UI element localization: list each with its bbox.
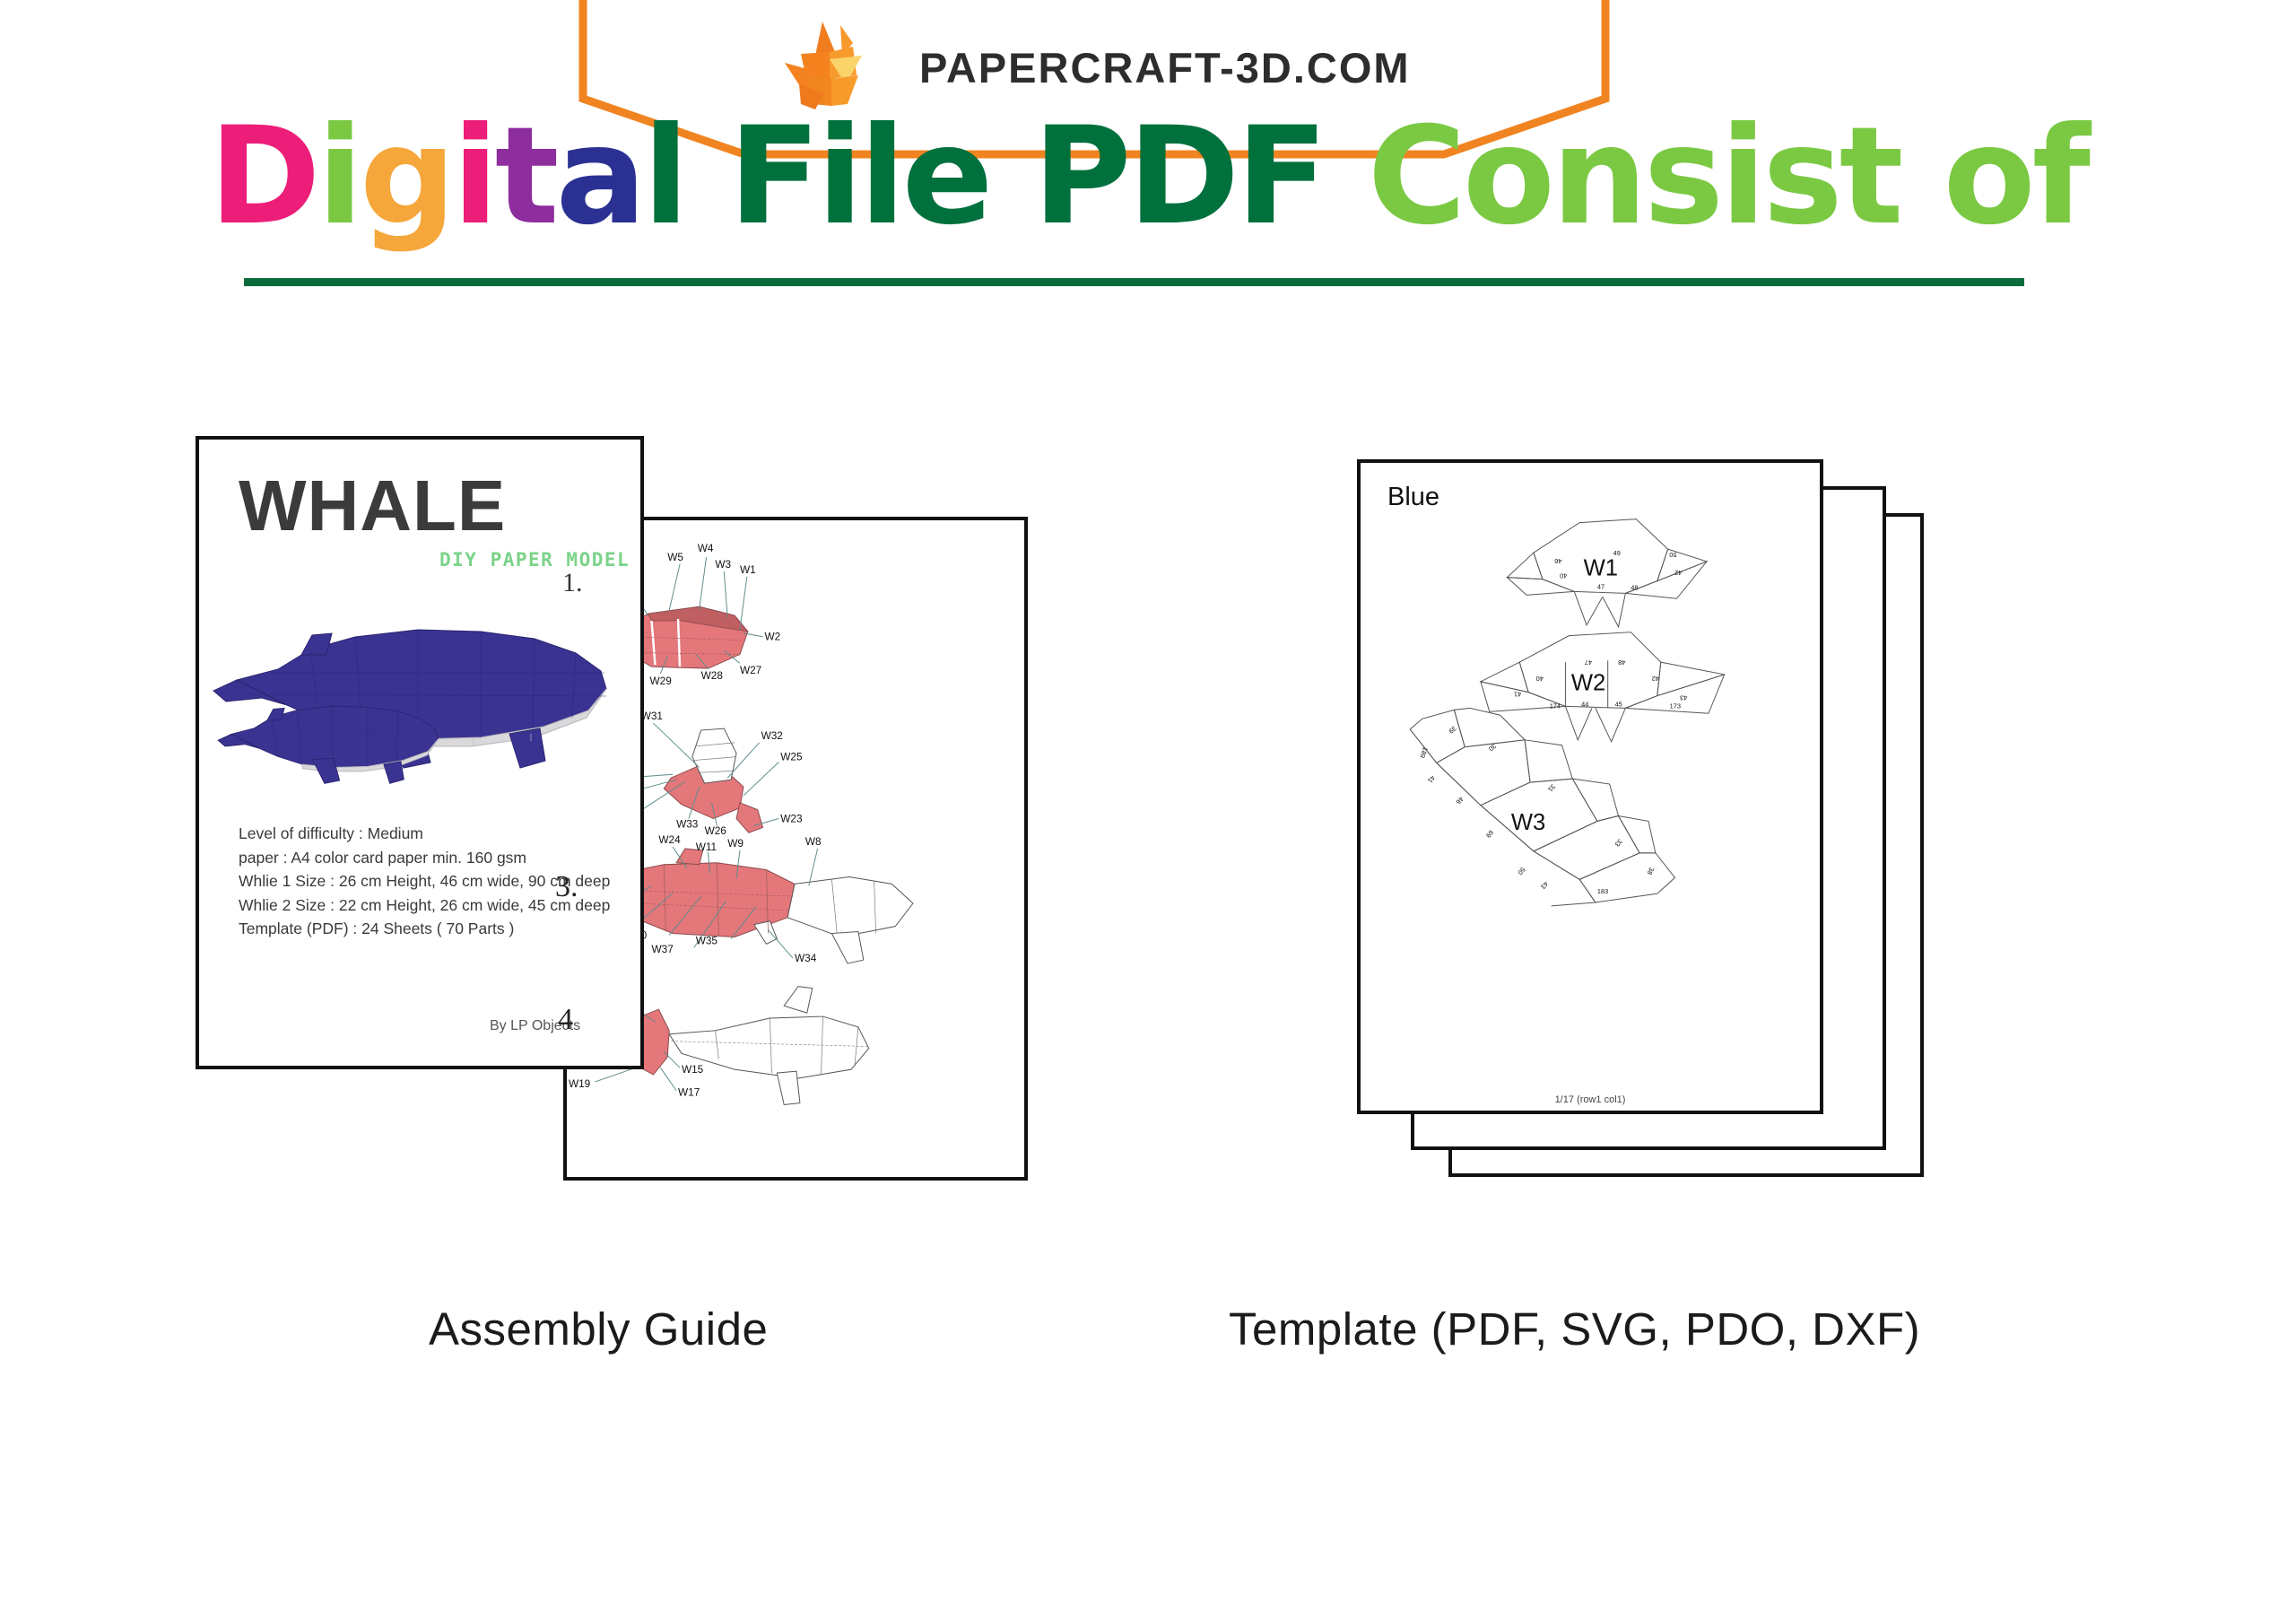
net-edge-numbers-W1: 49 46 40 47 48 50 42 [1554, 549, 1682, 591]
edge-num-w3-41: 41 [1426, 774, 1437, 785]
page-title: Digital File PDF Consist of [0, 109, 2296, 244]
net-part-W3 [1410, 708, 1674, 906]
edge-num-w3-50: 50 [1516, 866, 1526, 876]
title-letter-i2: i [452, 99, 494, 255]
edge-num-w2-45: 45 [1615, 700, 1622, 708]
title-letter-a: a [556, 99, 643, 255]
brand-name: PAPERCRAFT-3D.COM [919, 43, 1411, 92]
edge-num-47: 47 [1597, 582, 1605, 590]
part-label-W8: W8 [805, 835, 822, 848]
edge-num-46: 46 [1554, 557, 1561, 565]
title-word-consist-of: Consist of [1368, 99, 2087, 255]
parts-head-illustration [627, 606, 748, 668]
title-word-file-pdf: File PDF [685, 99, 1368, 255]
edge-num-w2-174: 174 [1550, 702, 1561, 710]
edge-num-48: 48 [1631, 583, 1638, 591]
part-label-W37: W37 [652, 943, 674, 955]
part-label-W5: W5 [667, 551, 683, 563]
net-part-label-W3: W3 [1511, 810, 1545, 835]
caption-assembly-guide: Assembly Guide [429, 1303, 768, 1355]
edge-num-w3-38: 38 [1646, 866, 1657, 876]
edge-num-w3-69: 69 [1484, 829, 1495, 840]
title-letter-l: l [643, 99, 685, 255]
part-label-W17: W17 [678, 1086, 700, 1099]
edge-num-40: 40 [1560, 572, 1567, 580]
edge-num-w2-41: 41 [1514, 691, 1521, 699]
template-sheet-1[interactable]: Blue 49 46 40 47 48 50 42 W1 [1357, 459, 1823, 1114]
assembly-cover-sheet[interactable]: WHALE DIY PAPER MODEL 1. [196, 436, 644, 1069]
part-label-W34: W34 [795, 952, 817, 964]
edge-num-42: 42 [1674, 569, 1682, 577]
edge-num-50: 50 [1669, 551, 1676, 559]
part-label-W29: W29 [650, 675, 672, 687]
part-label-W11: W11 [696, 841, 717, 853]
part-label-W1: W1 [740, 563, 756, 576]
edge-num-w3-183: 183 [1597, 887, 1608, 895]
part-label-W23: W23 [780, 812, 803, 824]
part-label-W25: W25 [780, 751, 803, 763]
title-letter-i1: i [317, 99, 360, 255]
cover-page-mark-3: 3. [555, 870, 578, 904]
part-label-W32: W32 [761, 729, 783, 742]
edge-num-w2-173: 173 [1670, 702, 1681, 710]
parts-tail-illustration [638, 987, 869, 1105]
cover-subtitle: DIY PAPER MODEL [439, 549, 630, 571]
part-label-W35: W35 [696, 934, 718, 946]
poster-root: PAPERCRAFT-3D.COM Digital File PDF Consi… [0, 0, 2296, 1621]
edge-num-w3-46: 46 [1454, 795, 1465, 806]
part-label-W15: W15 [682, 1063, 704, 1076]
part-label-W33: W33 [676, 817, 699, 830]
part-label-W27: W27 [740, 664, 761, 676]
cover-title: WHALE [239, 465, 506, 547]
part-label-W9: W9 [727, 837, 744, 850]
origami-fox-icon [776, 16, 883, 110]
title-underline-rule [244, 278, 2024, 286]
template-footer: 1/17 (row1 col1) [1361, 1094, 1820, 1105]
title-letter-D: D [209, 99, 317, 255]
spec-paper: paper : A4 color card paper min. 160 gsm [239, 846, 610, 870]
part-label-W4: W4 [698, 542, 714, 554]
edge-num-w3-43: 43 [1539, 880, 1550, 891]
edge-num-w3-33: 33 [1613, 837, 1624, 848]
spec-difficulty: Level of difficulty : Medium [239, 822, 610, 846]
spec-template: Template (PDF) : 24 Sheets ( 70 Parts ) [239, 917, 610, 941]
part-label-W24: W24 [658, 833, 681, 846]
whale-illustration [212, 583, 633, 816]
edge-num-w2-42: 42 [1652, 675, 1659, 683]
part-label-W3: W3 [715, 558, 731, 571]
net-part-label-W1: W1 [1584, 556, 1618, 581]
edge-num-w2-48: 48 [1618, 658, 1625, 667]
edge-num-w2-40: 40 [1536, 675, 1544, 683]
edge-num-w3-39: 39 [1448, 724, 1458, 735]
edge-num-w3-189: 189 [1418, 746, 1430, 760]
part-label-W26: W26 [705, 824, 727, 837]
edge-num-w2-43: 43 [1680, 694, 1687, 702]
title-letter-g: g [360, 99, 452, 255]
net-part-label-W2: W2 [1571, 671, 1605, 696]
cover-page-mark-4: 4 [558, 1003, 573, 1037]
title-letter-t: t [495, 99, 556, 255]
part-label-W28: W28 [701, 669, 724, 682]
edge-num-w2-47: 47 [1585, 658, 1592, 667]
edge-num-w2-44: 44 [1581, 700, 1588, 708]
part-label-W19: W19 [569, 1077, 590, 1090]
part-label-W2: W2 [765, 631, 781, 643]
template-net-drawing: 49 46 40 47 48 50 42 W1 47 [1361, 463, 1820, 1111]
caption-template-formats: Template (PDF, SVG, PDO, DXF) [1229, 1303, 1920, 1355]
part-label-W31: W31 [641, 710, 663, 722]
edge-num-w3-31: 31 [1546, 782, 1557, 793]
